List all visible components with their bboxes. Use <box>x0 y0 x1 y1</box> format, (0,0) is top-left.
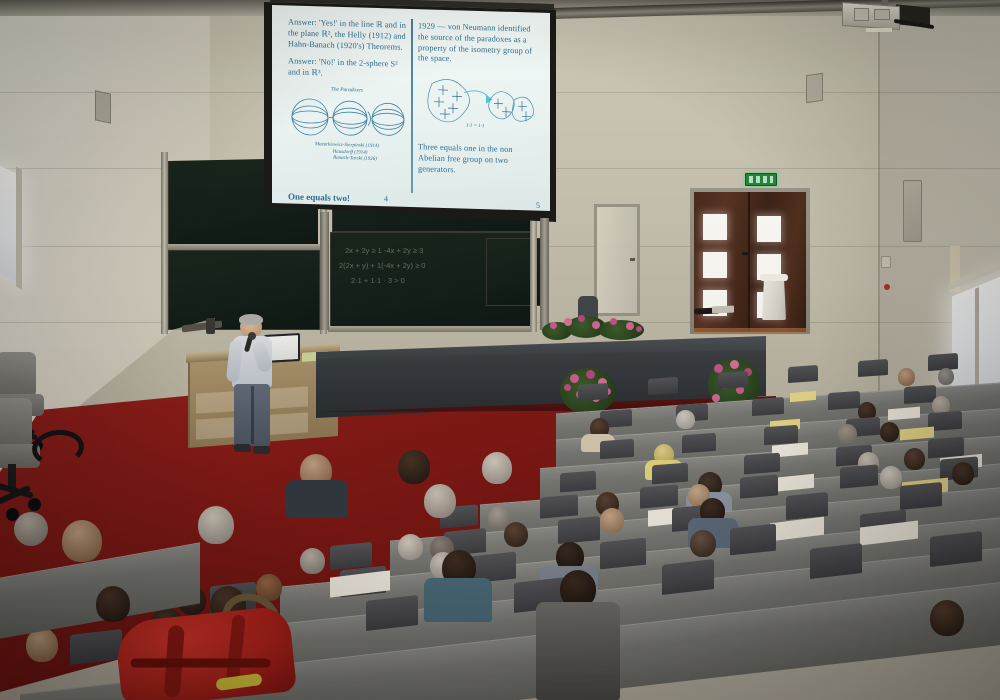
desk-lamp-head <box>206 318 215 334</box>
screen-support-post <box>320 212 329 330</box>
slide-page-number-left: 4 <box>384 194 388 203</box>
audience-head <box>898 368 915 386</box>
exit-sign-icon <box>745 173 777 186</box>
lecturer-shoe <box>234 444 251 452</box>
door-split <box>748 192 750 332</box>
audience-head <box>398 534 423 560</box>
speaker-icon <box>903 180 922 242</box>
projection-screen: Answer: 'Yes!' in the line ℝ and in the … <box>272 3 550 215</box>
sphere-figure <box>288 93 406 143</box>
audience-head <box>838 424 857 444</box>
audience-head <box>300 548 325 574</box>
flower-arrangement <box>540 312 652 346</box>
audience-head <box>424 484 456 518</box>
slide-credits: Mazurkiewicz-Sierpinski (1914) Hausdorff… <box>288 141 406 165</box>
figure-label: 1·1 = 1·1 <box>466 124 484 130</box>
audience-torso <box>536 602 620 700</box>
audience-head <box>690 530 716 557</box>
audience-head <box>96 586 130 622</box>
audience-head <box>904 448 925 470</box>
slide-answer-yes: Answer: 'Yes!' in the line ℝ and in the … <box>288 17 406 53</box>
lecturer-hair <box>239 314 263 325</box>
sensor-icon <box>881 256 891 268</box>
board-post <box>161 152 168 334</box>
group-figure: 1·1 = 1·1 <box>418 71 536 142</box>
chalk-rail <box>328 326 534 332</box>
audience-head <box>504 522 528 547</box>
lecturer-shoe <box>253 446 270 454</box>
audience-head <box>952 462 974 485</box>
door-light-gap <box>694 328 806 333</box>
projector-light-strip <box>866 28 892 32</box>
smoke-detector-icon <box>884 284 890 290</box>
table-object <box>712 306 734 314</box>
audience-head <box>14 512 48 546</box>
audience-torso <box>286 480 348 518</box>
speaker-icon <box>806 73 823 103</box>
audience-torso <box>424 578 492 622</box>
audience-head <box>938 368 954 385</box>
slide-von-neumann: 1929 — von Neumann identified the source… <box>418 21 536 68</box>
trouser-seam <box>251 386 254 444</box>
audience-head <box>600 508 624 533</box>
lecture-hall-photo: 2x + 2y ≥ 1 -4x + 2y ≥ 3 2(2x + y) + 1(-… <box>0 0 1000 700</box>
speaker-icon <box>95 90 111 123</box>
slide-right-page: 1929 — von Neumann identified the source… <box>418 21 536 185</box>
door-handle[interactable] <box>742 252 749 255</box>
door-window <box>703 252 727 278</box>
audience-head <box>880 422 899 442</box>
waste-bin <box>762 278 786 320</box>
door-window <box>757 216 781 242</box>
blackboard-right <box>486 238 546 306</box>
side-door-handle[interactable] <box>630 258 635 261</box>
slide-page-number-right: 5 <box>536 201 540 210</box>
lecturer <box>222 316 282 464</box>
slide-three-equals-one: Three equals one in the non Abelian free… <box>418 142 536 178</box>
left-window-frame <box>16 167 22 290</box>
microphone-head-icon <box>248 332 256 340</box>
audience-head <box>676 410 695 429</box>
chalk-line-2: 2(2x + y) + 1(-4x + 2y) ≥ 0 <box>339 260 425 272</box>
audience-head <box>398 450 430 484</box>
sphere-figure-svg <box>288 93 406 143</box>
slide-left-page: Answer: 'Yes!' in the line ℝ and in the … <box>288 17 406 165</box>
projector-lens-icon <box>854 8 869 21</box>
chalk-line-1: 2x + 2y ≥ 1 -4x + 2y ≥ 3 <box>345 245 423 257</box>
audience-head <box>880 466 902 489</box>
audience-head <box>62 520 102 562</box>
presentation-slide: Answer: 'Yes!' in the line ℝ and in the … <box>272 0 550 219</box>
audience-head <box>482 452 512 484</box>
door-window <box>703 214 727 240</box>
projector-icon <box>842 2 900 30</box>
slide-divider <box>411 19 413 193</box>
group-figure-svg: 1·1 = 1·1 <box>418 71 536 137</box>
projector-panel <box>874 9 890 20</box>
slide-answer-no: Answer: 'No!' in the 2-sphere S² and in … <box>288 57 406 82</box>
audience-head <box>198 506 234 544</box>
chalk-line-3: 2·1 + 1·1 · 3 > 0 <box>351 275 405 287</box>
audience-head <box>930 600 964 636</box>
slide-headline: One equals two! <box>288 191 350 203</box>
waste-bin-lid <box>760 274 788 281</box>
